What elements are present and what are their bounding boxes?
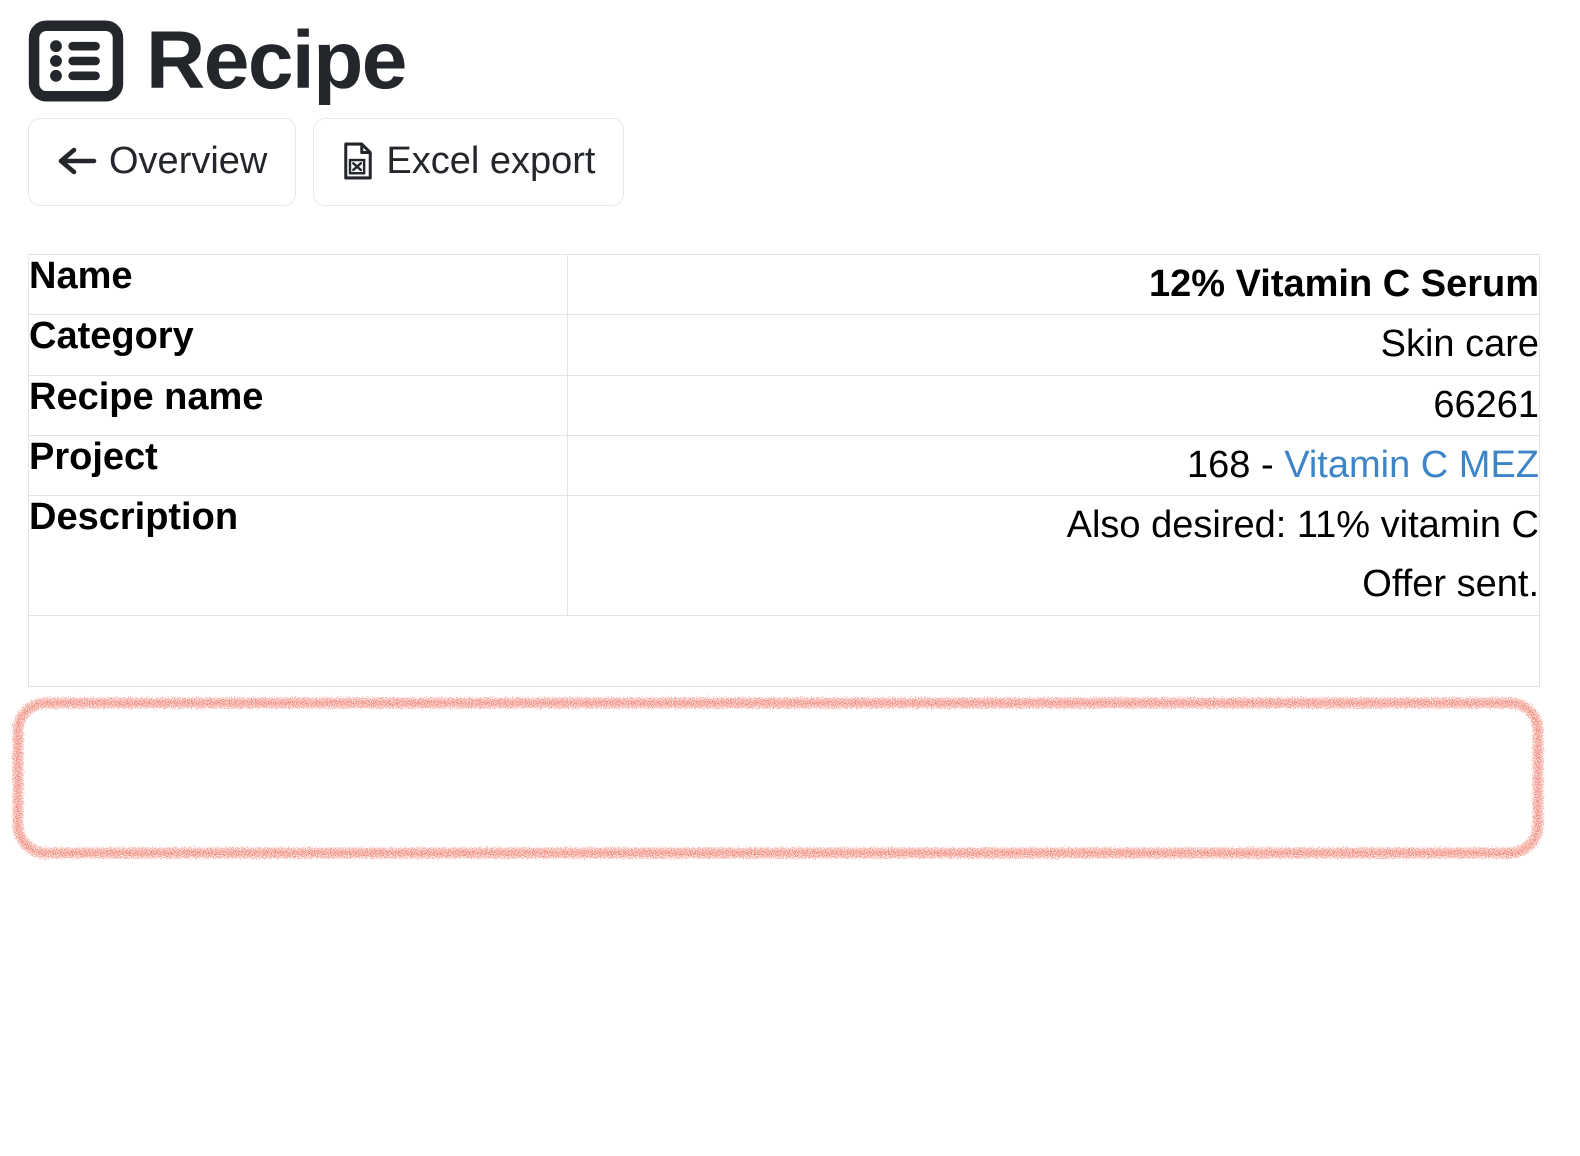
project-link[interactable]: Vitamin C MEZ (1284, 444, 1539, 486)
description-line-2: Offer sent. (568, 555, 1539, 614)
row-label-project: Project (29, 435, 568, 495)
project-id-text: 168 - (1187, 444, 1284, 486)
toolbar: Overview Excel export (0, 96, 1580, 206)
empty-row-cell (29, 615, 1540, 686)
description-line-1: Also desired: 11% vitamin C (568, 496, 1539, 555)
overview-button[interactable]: Overview (28, 118, 296, 206)
table-row: Description Also desired: 11% vitamin C … (29, 496, 1540, 616)
list-box-icon (28, 20, 124, 102)
table-row-project: Project 168 - Vitamin C MEZ (29, 435, 1540, 495)
arrow-left-icon (57, 144, 97, 178)
table-row-empty (29, 615, 1540, 686)
row-value-description: Also desired: 11% vitamin C Offer sent. (568, 496, 1540, 616)
row-value-project: 168 - Vitamin C MEZ (568, 435, 1540, 495)
table-row: Name 12% Vitamin C Serum (29, 255, 1540, 315)
row-value-recipe-name: 66261 (568, 375, 1540, 435)
page-title: Recipe (146, 21, 406, 101)
row-label-description: Description (29, 496, 568, 616)
excel-export-button[interactable]: Excel export (313, 118, 624, 206)
table-row: Recipe name 66261 (29, 375, 1540, 435)
overview-button-label: Overview (109, 142, 267, 180)
row-label-name: Name (29, 255, 568, 315)
table-row: Category Skin care (29, 315, 1540, 375)
excel-file-icon (342, 141, 374, 181)
row-label-category: Category (29, 315, 568, 375)
row-value-category: Skin care (568, 315, 1540, 375)
row-label-recipe-name: Recipe name (29, 375, 568, 435)
detail-table-wrap: Name 12% Vitamin C Serum Category Skin c… (0, 206, 1580, 687)
recipe-detail-page: Recipe Overview Excel export (0, 0, 1580, 1156)
page-header: Recipe (0, 0, 1580, 96)
recipe-detail-table: Name 12% Vitamin C Serum Category Skin c… (28, 254, 1540, 687)
excel-export-button-label: Excel export (386, 142, 595, 180)
row-value-name: 12% Vitamin C Serum (568, 255, 1540, 315)
project-row-highlight-annotation (2, 688, 1554, 868)
